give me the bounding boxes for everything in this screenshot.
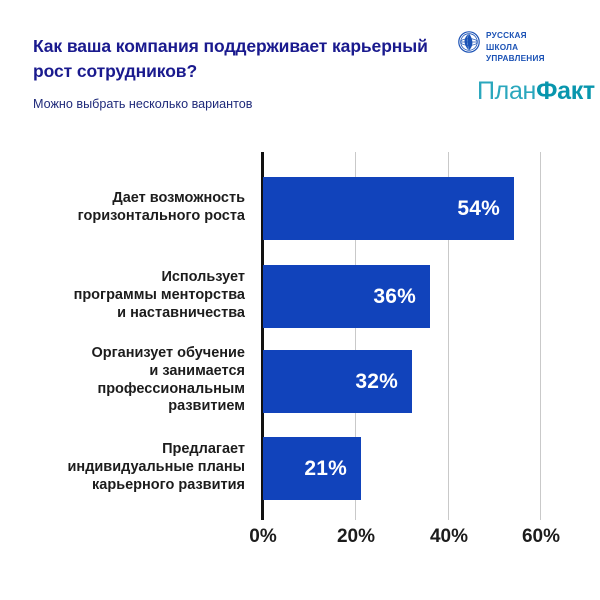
bar-value-label: 36%: [373, 285, 416, 309]
rsu-line-1: РУССКАЯ: [486, 31, 527, 40]
bar-label-line: развитием: [168, 398, 245, 414]
bar-label-line: и наставничества: [117, 305, 245, 321]
title-block: Как ваша компания поддерживает карьерный…: [33, 34, 433, 112]
bar-category-label: Дает возможность горизонтального роста: [5, 190, 245, 226]
bar-label-line: программы менторства: [74, 287, 245, 303]
bar-label-line: Дает возможность: [112, 190, 245, 206]
bar-value-label: 21%: [304, 457, 347, 481]
logo-block: РУССКАЯ ШКОЛА УПРАВЛЕНИЯ ПланФакт: [458, 30, 588, 104]
bar-category-label: Предлагает индивидуальные планы карьерно…: [5, 441, 245, 494]
planfact-fakt-text: Факт: [536, 77, 595, 105]
rsu-logo-text: РУССКАЯ ШКОЛА УПРАВЛЕНИЯ: [486, 30, 545, 65]
bar-value-label: 32%: [355, 370, 398, 394]
bar-label-line: Использует: [161, 269, 245, 285]
bar-label-line: и занимается: [149, 363, 245, 379]
bar-category-label: Организует обучение и занимается професс…: [5, 345, 245, 416]
page-title: Как ваша компания поддерживает карьерный…: [33, 34, 433, 84]
x-tick-40: 40%: [430, 526, 468, 548]
gridline-60: [540, 152, 541, 520]
chart-subtitle: Можно выбрать несколько вариантов: [33, 96, 433, 112]
bar-category-label: Использует программы менторства и настав…: [5, 269, 245, 322]
bar-label-line: Предлагает: [162, 441, 245, 457]
bar-label-line: горизонтального роста: [78, 208, 245, 224]
bar-54[interactable]: 54%: [263, 177, 514, 240]
rsu-line-3: УПРАВЛЕНИЯ: [486, 54, 545, 63]
globe-icon: [458, 31, 480, 58]
x-tick-20: 20%: [337, 526, 375, 548]
bar-chart-plot-area: Дает возможность горизонтального роста 5…: [0, 150, 600, 570]
bar-value-label: 54%: [457, 197, 500, 221]
planfact-logo: ПланФакт: [477, 79, 588, 104]
planfact-plan-text: План: [477, 77, 536, 105]
bar-label-line: профессиональным: [97, 381, 245, 397]
bar-21[interactable]: 21%: [263, 437, 361, 500]
bar-label-line: индивидуальные планы: [68, 459, 245, 475]
bar-32[interactable]: 32%: [263, 350, 412, 413]
x-tick-60: 60%: [522, 526, 560, 548]
bar-label-line: Организует обучение: [91, 345, 245, 361]
bar-label-line: карьерного развития: [92, 477, 245, 493]
x-tick-0: 0%: [249, 526, 276, 548]
rsu-logo: РУССКАЯ ШКОЛА УПРАВЛЕНИЯ: [458, 30, 588, 65]
chart-header: Как ваша компания поддерживает карьерный…: [0, 0, 600, 140]
bar-36[interactable]: 36%: [263, 265, 430, 328]
rsu-line-2: ШКОЛА: [486, 43, 518, 52]
